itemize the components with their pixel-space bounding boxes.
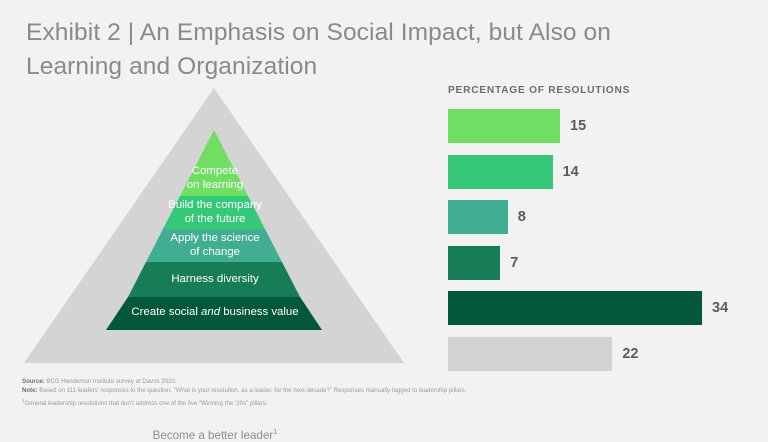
footnote-note-text: Based on 111 leaders' responses to the q…	[38, 387, 467, 394]
bar-value-1: 15	[570, 118, 586, 134]
bar-value-5: 34	[712, 300, 728, 316]
pyramid-base-label-text: Become a better leader	[153, 429, 274, 442]
pyramid-base-label: Become a better leader1	[0, 427, 430, 442]
bar-chart: PERCENTAGE OF RESOLUTIONS 1514873422	[448, 85, 758, 375]
footnote-one-text: General leadership resolutions that don’…	[25, 400, 268, 407]
bar-row: 7	[448, 246, 758, 280]
footnotes: Source: BCG Henderson Institute survey a…	[22, 377, 722, 408]
footnote-source-label: Source:	[22, 378, 45, 385]
bar-value-4: 7	[510, 255, 518, 271]
bar-5	[448, 291, 702, 325]
pyramid-diagram: Compete on learning Build the company of…	[0, 85, 430, 375]
footnote-source-text: BCG Henderson Institute survey at Davos …	[45, 378, 177, 385]
bar-row: 14	[448, 155, 758, 189]
pyramid-level-5	[106, 297, 322, 330]
page-title: Exhibit 2 | An Emphasis on Social Impact…	[26, 16, 706, 84]
bar-row: 34	[448, 291, 758, 325]
bar-row: 22	[448, 337, 758, 371]
footnote-note-label: Note:	[22, 387, 38, 394]
footnote-source: Source: BCG Henderson Institute survey a…	[22, 377, 722, 386]
bar-3	[448, 200, 508, 234]
pyramid-level-3	[146, 229, 282, 262]
bar-row: 8	[448, 200, 758, 234]
bar-4	[448, 246, 500, 280]
bar-value-6: 22	[622, 346, 638, 362]
bar-1	[448, 109, 560, 143]
chart-heading: PERCENTAGE OF RESOLUTIONS	[448, 85, 630, 96]
bar-value-2: 14	[563, 164, 579, 180]
footnote-one: 1General leadership resolutions that don…	[22, 396, 722, 408]
bar-value-3: 8	[518, 209, 526, 225]
bar-row: 15	[448, 109, 758, 143]
pyramid-level-4	[128, 262, 300, 297]
bar-2	[448, 155, 553, 189]
bar-list: 1514873422	[448, 109, 758, 382]
footnote-note: Note: Based on 111 leaders' responses to…	[22, 386, 722, 395]
bar-6	[448, 337, 612, 371]
pyramid-svg	[0, 85, 430, 375]
pyramid-level-2	[163, 196, 265, 229]
